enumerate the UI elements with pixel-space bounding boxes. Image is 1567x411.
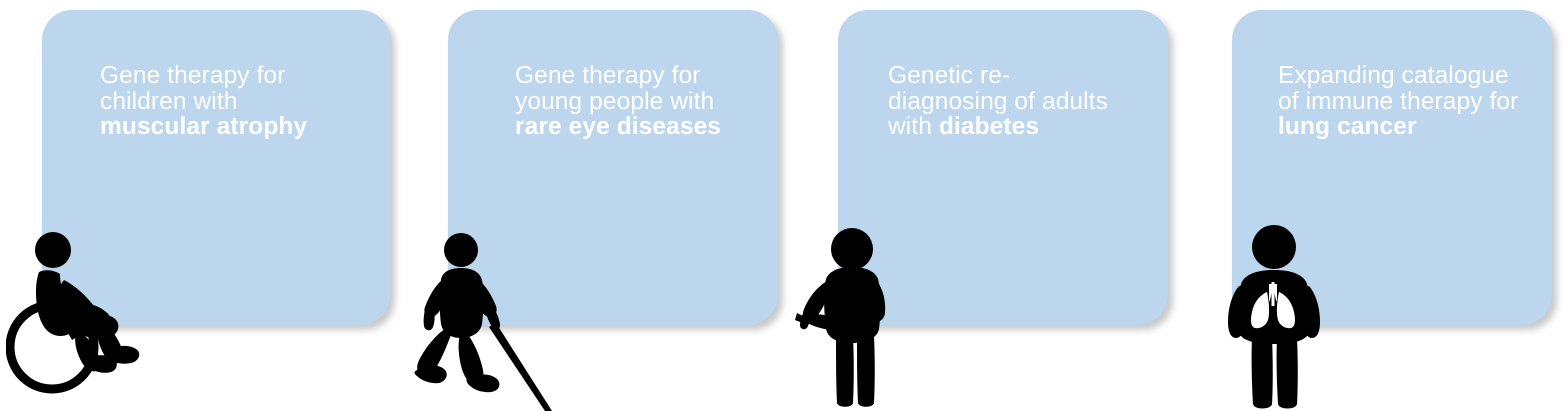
person-with-white-cane-icon [404, 228, 564, 411]
card-lung-cancer-text: Expanding catalogue of immune therapy fo… [1278, 63, 1523, 140]
wheelchair-user-icon [6, 228, 166, 411]
card-muscular-atrophy-text: Gene therapy for children with muscular … [100, 63, 350, 140]
card-rare-eye-diseases-text: Gene therapy for young people with rare … [515, 63, 730, 140]
card-lung-cancer-lead: Expanding catalogue of immune therapy fo… [1278, 62, 1525, 115]
infographic-canvas: Gene therapy for children with muscular … [0, 0, 1567, 411]
card-diabetes-emphasis: diabetes [939, 113, 1039, 140]
card-muscular-atrophy-emphasis: muscular atrophy [100, 113, 307, 140]
card-lung-cancer-emphasis: lung cancer [1278, 113, 1417, 140]
card-muscular-atrophy-lead: Gene therapy for children with [100, 62, 292, 115]
blood-glucose-test-person-icon [795, 225, 915, 411]
card-diabetes-text: Genetic re-diagnosing of adults with dia… [888, 63, 1108, 140]
person-with-lungs-icon [1222, 222, 1327, 411]
card-rare-eye-diseases-lead: Gene therapy for young people with [515, 62, 721, 115]
card-rare-eye-diseases-emphasis: rare eye diseases [515, 113, 721, 140]
